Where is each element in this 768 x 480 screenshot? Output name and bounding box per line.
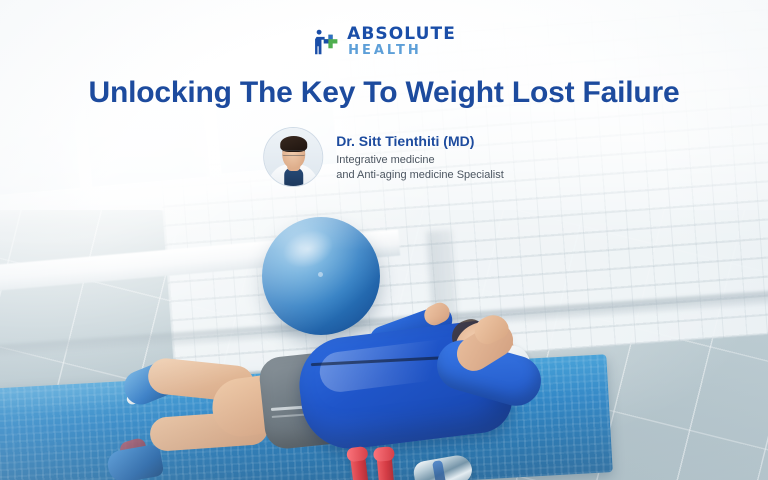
presentation-slide: ABSOLUTE HEALTH Unlocking The Key To Wei… bbox=[0, 0, 768, 480]
speaker-name: Dr. Sitt Tienthiti (MD) bbox=[336, 132, 504, 150]
speaker-role-line2: and Anti-aging medicine Specialist bbox=[336, 168, 504, 183]
avatar bbox=[264, 128, 322, 186]
speaker-role-line1: Integrative medicine bbox=[336, 153, 504, 168]
slide-content: ABSOLUTE HEALTH Unlocking The Key To Wei… bbox=[0, 0, 768, 480]
brand-wordmark: ABSOLUTE HEALTH bbox=[347, 26, 456, 57]
page-title: Unlocking The Key To Weight Lost Failure bbox=[0, 76, 768, 110]
brand-name-top: ABSOLUTE bbox=[347, 26, 456, 43]
absolute-health-figure-cross-icon bbox=[312, 27, 342, 57]
brand-logo: ABSOLUTE HEALTH bbox=[312, 26, 456, 57]
speaker-block: Dr. Sitt Tienthiti (MD) Integrative medi… bbox=[264, 128, 504, 186]
avatar-glasses bbox=[282, 150, 305, 156]
brand-name-bottom: HEALTH bbox=[348, 44, 456, 57]
speaker-text: Dr. Sitt Tienthiti (MD) Integrative medi… bbox=[336, 132, 504, 183]
